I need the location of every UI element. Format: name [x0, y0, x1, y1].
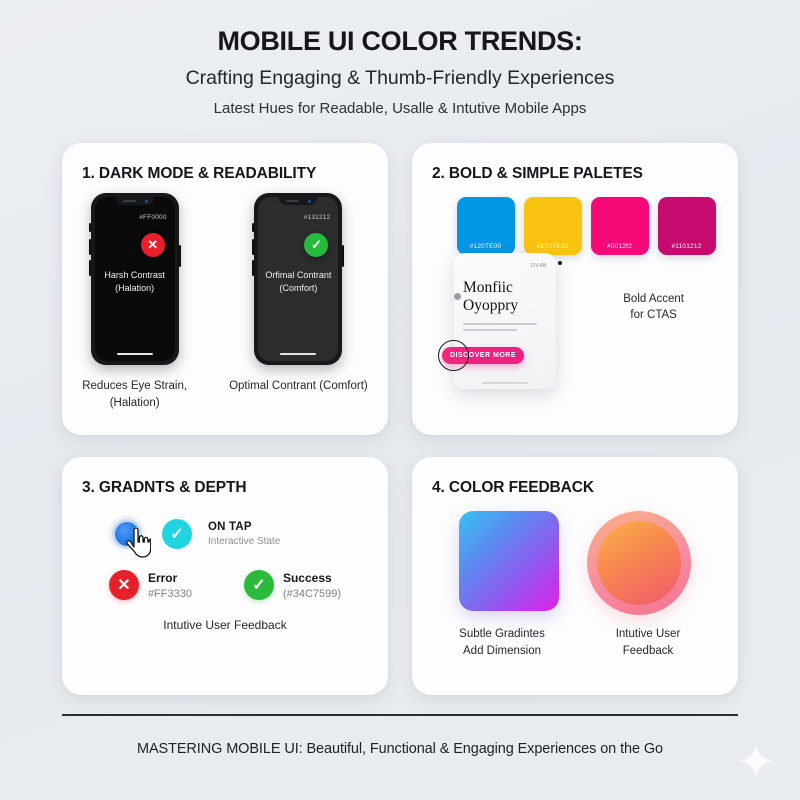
- on-tap-row: ✓ ON TAP Interactive State: [108, 515, 368, 553]
- on-tap-sublabel: Interactive State: [208, 536, 280, 547]
- status-error: ✕ Error #FF3330: [109, 570, 192, 600]
- phone-notch-icon: [116, 197, 154, 205]
- phone-caption: Optimal Contrant (Comfort): [229, 378, 368, 394]
- card-2-title: 2. BOLD & SIMPLE PALETES: [432, 165, 718, 183]
- card-gradients-depth: 3. GRADNTS & DEPTH ✓ ON TAP Interactive …: [62, 457, 388, 695]
- card-4-title: 4. COLOR FEEDBACK: [432, 479, 718, 497]
- phone-screen-text: Orfimal Contrant(Comfort): [259, 269, 337, 295]
- status-name: Error: [148, 571, 192, 585]
- gradient-square-swatch[interactable]: [459, 511, 559, 611]
- phone-screen-text: Harsh Contrast(Halation): [98, 269, 171, 295]
- phone-power-button[interactable]: [178, 245, 181, 267]
- gradient-circle-swatch[interactable]: [587, 511, 691, 615]
- footer-divider: [62, 714, 738, 716]
- page-footer: MASTERING MOBILE UI: Beautiful, Function…: [0, 714, 800, 800]
- phone-mute-button[interactable]: [89, 223, 92, 232]
- mockup-home-indicator-icon: [482, 382, 528, 384]
- on-tap-label: ON TAP: [208, 521, 280, 533]
- card-color-feedback: 4. COLOR FEEDBACK Subtle GradintesAdd Di…: [412, 457, 738, 695]
- status-success: ✓ Success (#34C7599): [244, 570, 341, 600]
- phone-mute-button[interactable]: [252, 223, 255, 232]
- status-name: Success: [283, 571, 341, 585]
- success-icon: ✓: [244, 570, 274, 600]
- home-indicator-icon: [117, 353, 153, 356]
- card-dark-mode-readability: 1. DARK MODE & READABILITY #FF0000 ✕ Har…: [62, 143, 388, 435]
- app-mockup-card: DV4B MonfiicOyoppry: [454, 253, 556, 389]
- tap-ripple-group: [108, 515, 146, 553]
- phone-caption: Reduces Eye Strain,(Halation): [82, 378, 187, 411]
- shape-caption: Subtle GradintesAdd Dimension: [446, 626, 558, 659]
- error-badge-icon: ✕: [141, 233, 165, 257]
- gradient-circle-inner: [597, 521, 681, 605]
- footer-text: MASTERING MOBILE UI: Beautiful, Function…: [0, 741, 800, 757]
- mockup-headline: MonfiicOyoppry: [463, 279, 547, 314]
- phone-comparison: #FF0000 ✕ Harsh Contrast(Halation) Reduc…: [82, 193, 368, 411]
- page-header: MOBILE UI COLOR TRENDS: Crafting Engagin…: [0, 0, 800, 122]
- hex-label: #131212: [304, 214, 331, 221]
- phone-optimal-contrast: #131212 ✓ Orfimal Contrant(Comfort) Opti…: [229, 193, 368, 411]
- on-tap-labels: ON TAP Interactive State: [208, 521, 280, 547]
- phone-volume-down-button[interactable]: [89, 260, 92, 276]
- phone-volume-down-button[interactable]: [252, 260, 255, 276]
- phone-harsh-contrast: #FF0000 ✕ Harsh Contrast(Halation) Reduc…: [82, 193, 187, 411]
- status-hex: (#34C7599): [283, 588, 341, 600]
- phone-screen: #131212 ✓ Orfimal Contrant(Comfort): [258, 197, 338, 361]
- phone-frame: #131212 ✓ Orfimal Contrant(Comfort): [254, 193, 342, 365]
- status-row: ✕ Error #FF3330 ✓ Success (#34C7599): [82, 570, 368, 600]
- phone-volume-up-button[interactable]: [89, 239, 92, 255]
- status-hex: #FF3330: [148, 588, 192, 600]
- gradient-shapes: [432, 511, 718, 615]
- card-1-title: 1. DARK MODE & READABILITY: [82, 165, 368, 183]
- page-title: MOBILE UI COLOR TRENDS:: [40, 26, 760, 58]
- bold-accent-note: Bold Accentfor CTAS: [623, 291, 684, 324]
- phone-screen: #FF0000 ✕ Harsh Contrast(Halation): [95, 197, 175, 361]
- card-3-title: 3. GRADNTS & DEPTH: [82, 479, 368, 497]
- home-indicator-icon: [280, 353, 316, 356]
- mockup-body-placeholder: [463, 323, 547, 332]
- pointer-hand-icon: [125, 528, 151, 558]
- shape-caption: Intutive User Feedback: [592, 626, 704, 659]
- app-mockup-area: DV4B MonfiicOyoppry DISCOVER MORE Bold A…: [432, 231, 718, 381]
- page-subtitle: Crafting Engaging & Thumb-Friendly Exper…: [40, 67, 760, 90]
- sparkle-icon: [739, 744, 773, 778]
- page-tagline: Latest Hues for Readable, Usalle & Intut…: [40, 100, 760, 118]
- on-tap-check-icon: ✓: [162, 519, 192, 549]
- card-bold-simple-palettes: 2. BOLD & SIMPLE PALETES #120TE00 #E007E…: [412, 143, 738, 435]
- success-badge-icon: ✓: [304, 233, 328, 257]
- mockup-logo: DV4B: [463, 263, 547, 269]
- feedback-note: Intutive User Feedback: [82, 618, 368, 632]
- phone-frame: #FF0000 ✕ Harsh Contrast(Halation): [91, 193, 179, 365]
- phone-power-button[interactable]: [342, 245, 345, 267]
- phone-volume-up-button[interactable]: [252, 239, 255, 255]
- shape-captions: Subtle GradintesAdd Dimension Intutive U…: [432, 626, 718, 659]
- phone-notch-icon: [279, 197, 317, 205]
- error-icon: ✕: [109, 570, 139, 600]
- hex-label: #FF0000: [139, 214, 166, 221]
- decor-dot-icon: [558, 261, 562, 265]
- cards-grid: 1. DARK MODE & READABILITY #FF0000 ✕ Har…: [0, 122, 800, 695]
